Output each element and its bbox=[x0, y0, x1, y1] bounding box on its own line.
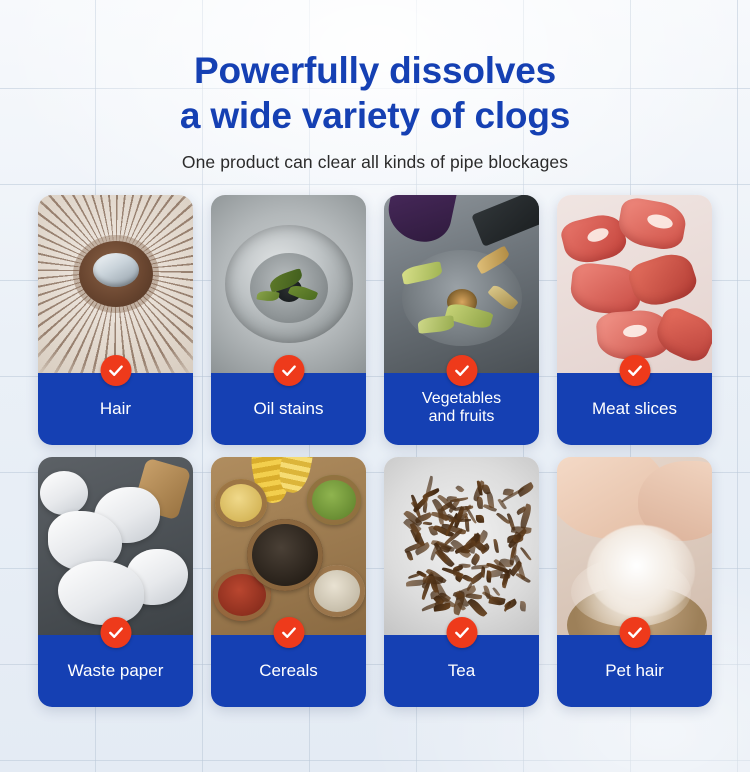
clog-card-pet-hair[interactable]: Pet hair bbox=[557, 457, 712, 707]
check-icon bbox=[619, 617, 650, 648]
clog-photo-pet-hair bbox=[557, 457, 712, 635]
clog-photo-waste-paper bbox=[38, 457, 193, 635]
clog-photo-tea bbox=[384, 457, 539, 635]
page-title: Powerfully dissolves a wide variety of c… bbox=[0, 48, 750, 138]
clog-photo-hair bbox=[38, 195, 193, 373]
check-icon bbox=[273, 617, 304, 648]
clog-photo-vegetables-and-fruits bbox=[384, 195, 539, 373]
promo-page: Powerfully dissolves a wide variety of c… bbox=[0, 0, 750, 772]
clog-type-grid: Hair Oil stains bbox=[0, 195, 750, 707]
clog-photo-meat-slices bbox=[557, 195, 712, 373]
page-subtitle: One product can clear all kinds of pipe … bbox=[0, 152, 750, 173]
clog-photo-cereals bbox=[211, 457, 366, 635]
clog-label-oil-stains: Oil stains bbox=[254, 399, 324, 418]
header-block: Powerfully dissolves a wide variety of c… bbox=[0, 0, 750, 173]
clog-card-vegetables-and-fruits[interactable]: Vegetables and fruits bbox=[384, 195, 539, 445]
clog-label-waste-paper: Waste paper bbox=[68, 661, 164, 680]
check-icon bbox=[100, 355, 131, 386]
clog-card-oil-stains[interactable]: Oil stains bbox=[211, 195, 366, 445]
clog-photo-oil-stains bbox=[211, 195, 366, 373]
clog-label-tea: Tea bbox=[448, 661, 475, 680]
clog-label-cereals: Cereals bbox=[259, 661, 318, 680]
page-title-line-2: a wide variety of clogs bbox=[0, 93, 750, 138]
clog-card-tea[interactable]: Tea bbox=[384, 457, 539, 707]
clog-card-meat-slices[interactable]: Meat slices bbox=[557, 195, 712, 445]
check-icon bbox=[446, 355, 477, 386]
clog-label-hair: Hair bbox=[100, 399, 131, 418]
clog-label-line-2: and fruits bbox=[429, 408, 495, 425]
check-icon bbox=[273, 355, 304, 386]
check-icon bbox=[100, 617, 131, 648]
clog-label-meat-slices: Meat slices bbox=[592, 399, 677, 418]
clog-label-pet-hair: Pet hair bbox=[605, 661, 664, 680]
page-title-line-1: Powerfully dissolves bbox=[194, 50, 556, 91]
clog-label-vegetables-and-fruits: Vegetables and fruits bbox=[422, 390, 501, 426]
clog-card-waste-paper[interactable]: Waste paper bbox=[38, 457, 193, 707]
check-icon bbox=[446, 617, 477, 648]
check-icon bbox=[619, 355, 650, 386]
clog-label-line-1: Vegetables bbox=[422, 390, 501, 407]
clog-card-hair[interactable]: Hair bbox=[38, 195, 193, 445]
clog-card-cereals[interactable]: Cereals bbox=[211, 457, 366, 707]
